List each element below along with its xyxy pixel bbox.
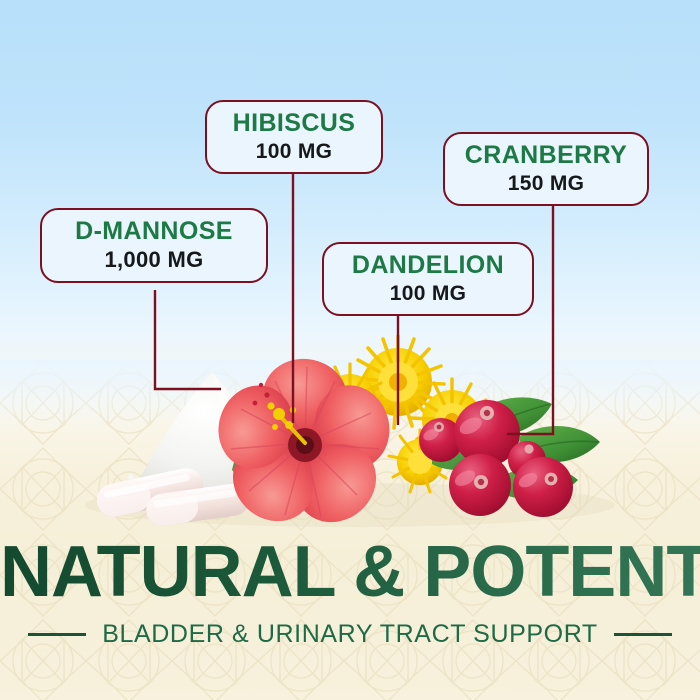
callout-cranberry-dose: 150 MG — [459, 173, 633, 194]
leader-dmannose — [155, 290, 221, 389]
subtitle-rule-right — [614, 633, 672, 636]
promo-canvas: D-MANNOSE 1,000 MG HIBISCUS 100 MG DANDE… — [0, 0, 700, 700]
callout-cranberry-name: CRANBERRY — [459, 143, 633, 168]
hibiscus-flower-art — [208, 354, 399, 539]
callout-hibiscus-dose: 100 MG — [221, 141, 367, 162]
cranberry-leaves-art — [432, 397, 600, 499]
callout-dmannose-dose: 1,000 MG — [56, 249, 252, 271]
callout-dandelion[interactable]: DANDELION 100 MG — [322, 242, 534, 316]
callout-dandelion-dose: 100 MG — [338, 283, 518, 304]
background-pattern — [0, 360, 700, 700]
subtitle-rule-left — [28, 633, 86, 636]
pattern-fade — [0, 360, 700, 430]
callout-hibiscus[interactable]: HIBISCUS 100 MG — [205, 100, 383, 174]
dandelion-flowers-art — [314, 336, 493, 492]
callout-cranberry[interactable]: CRANBERRY 150 MG — [443, 132, 649, 206]
callout-hibiscus-name: HIBISCUS — [221, 111, 367, 136]
powder-mound-art — [107, 372, 307, 511]
cranberries-art — [419, 400, 573, 517]
hibiscus-leaves-art — [232, 404, 316, 506]
leader-cranberry — [507, 202, 553, 434]
subtitle-row: BLADDER & URINARY TRACT SUPPORT — [0, 620, 700, 649]
subtitle: BLADDER & URINARY TRACT SUPPORT — [102, 620, 598, 649]
callout-dmannose-name: D-MANNOSE — [56, 219, 252, 244]
callout-dmannose[interactable]: D-MANNOSE 1,000 MG — [40, 208, 268, 283]
capsules-art — [94, 465, 252, 528]
callout-dandelion-name: DANDELION — [338, 253, 518, 278]
headline: NATURAL & POTENT — [0, 536, 700, 608]
